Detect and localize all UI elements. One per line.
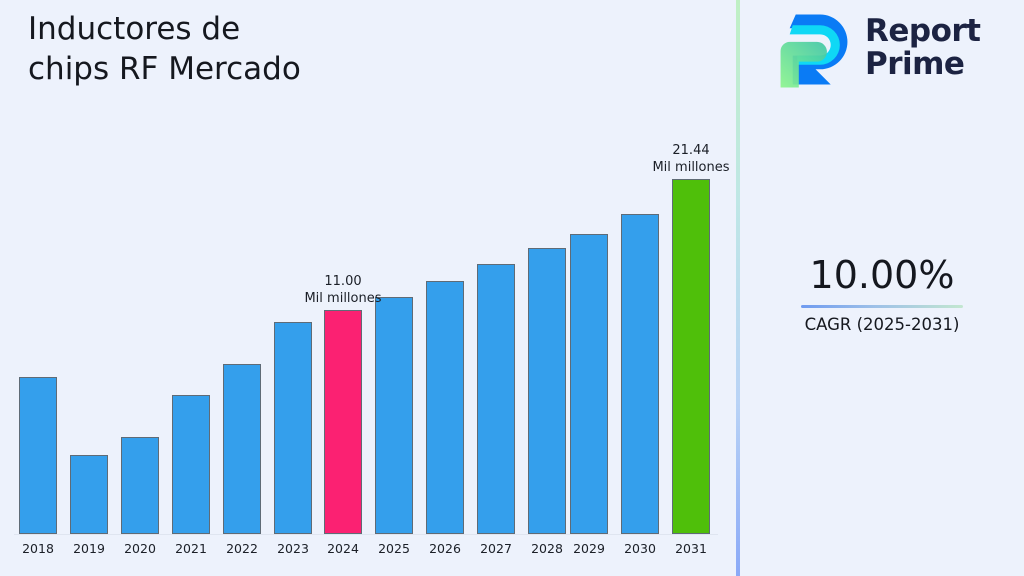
x-tick-label-2023: 2023	[267, 541, 319, 556]
bar-2028	[528, 248, 566, 534]
brand-logo: Report Prime	[776, 8, 981, 88]
cagr-value: 10.00%	[740, 252, 1024, 298]
bar-2029	[570, 234, 608, 534]
bar-callout-2024: 11.00 Mil millones	[258, 273, 428, 307]
cagr-block: 10.00% CAGR (2025-2031)	[740, 252, 1024, 336]
x-tick-label-2031: 2031	[665, 541, 717, 556]
bar-2024	[324, 310, 362, 534]
bar-2022	[223, 364, 261, 534]
x-tick-label-2022: 2022	[216, 541, 268, 556]
bar-2030	[621, 214, 659, 534]
x-axis-line	[14, 534, 718, 535]
bar-2031	[672, 179, 710, 534]
x-tick-label-2029: 2029	[563, 541, 615, 556]
x-tick-label-2021: 2021	[165, 541, 217, 556]
x-tick-label-2018: 2018	[12, 541, 64, 556]
bar-2025	[375, 297, 413, 534]
bar-2019	[70, 455, 108, 534]
x-tick-label-2026: 2026	[419, 541, 471, 556]
bar-2027	[477, 264, 515, 534]
brand-wordmark: Report Prime	[865, 15, 981, 81]
report-prime-logo-mark-icon	[776, 8, 852, 88]
x-tick-label-2030: 2030	[614, 541, 666, 556]
bar-2018	[19, 377, 57, 534]
x-tick-label-2020: 2020	[114, 541, 166, 556]
cagr-caption: CAGR (2025-2031)	[740, 314, 1024, 336]
right-panel: Report Prime 10.00% CAGR (2025-2031)	[740, 0, 1024, 576]
bar-2026	[426, 281, 464, 534]
bar-2023	[274, 322, 312, 534]
bar-2020	[121, 437, 159, 534]
bar-2021	[172, 395, 210, 534]
chart-panel: Inductores de chips RF Mercado 201820192…	[0, 0, 737, 576]
cagr-divider	[801, 305, 963, 308]
x-tick-label-2025: 2025	[368, 541, 420, 556]
x-tick-label-2019: 2019	[63, 541, 115, 556]
x-tick-label-2027: 2027	[470, 541, 522, 556]
x-tick-label-2024: 2024	[317, 541, 369, 556]
